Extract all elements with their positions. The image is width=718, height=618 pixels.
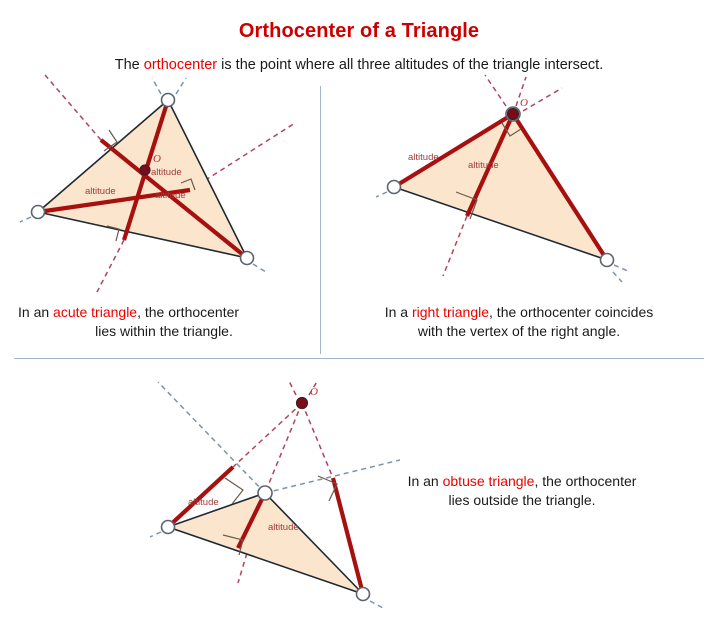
side-extension-dash — [158, 382, 265, 493]
right-triangle-figure: O altitude altitude — [330, 80, 710, 295]
panel-divider-vertical — [320, 86, 321, 354]
orthocenter-point — [140, 165, 150, 175]
vertex-tick-dash — [613, 272, 622, 282]
caption-acute-line2: lies within the triangle. — [18, 322, 310, 341]
caption-right-line2: with the vertex of the right angle. — [334, 322, 704, 341]
subtitle-text-after: is the point where all three altitudes o… — [217, 57, 603, 73]
altitude-extension-dash — [265, 403, 302, 493]
caption-text: In an — [18, 304, 53, 320]
triangle-vertex — [601, 254, 614, 267]
orthocenter-infographic: Orthocenter of a Triangle The orthocente… — [0, 0, 718, 618]
page-title: Orthocenter of a Triangle — [0, 20, 718, 43]
obtuse-triangle-shape — [168, 493, 363, 594]
caption-text: , the orthocenter — [534, 473, 636, 489]
caption-acute-line1: In an acute triangle, the orthocenter — [18, 303, 310, 322]
panel-divider-horizontal — [14, 358, 704, 359]
caption-highlight: right triangle — [412, 304, 489, 320]
triangle-vertex — [241, 252, 254, 265]
altitude-extension-dash — [485, 75, 506, 106]
caption-text: , the orthocenter — [137, 304, 239, 320]
altitude-label: altitude — [155, 190, 186, 201]
altitude-extension-dash — [288, 379, 296, 395]
caption-highlight: obtuse triangle — [443, 473, 535, 489]
vertex-tick-dash — [176, 78, 186, 94]
caption-text: In an — [408, 473, 443, 489]
page-subtitle: The orthocenter is the point where all t… — [0, 57, 718, 73]
triangle-vertex — [258, 486, 272, 500]
altitude-extension-dash — [45, 75, 101, 140]
triangle-vertex — [32, 206, 45, 219]
vertex-tick-dash — [152, 78, 161, 94]
orthocenter-label: O — [520, 97, 528, 109]
altitude-extension-dash — [302, 403, 333, 478]
orthocenter-label: O — [310, 386, 318, 398]
caption-obtuse: In an obtuse triangle, the orthocenter l… — [372, 472, 672, 510]
altitude-extension-dash — [523, 88, 562, 111]
acute-triangle-figure: O altitude altitude altitude — [0, 80, 320, 295]
triangle-vertex — [162, 521, 175, 534]
caption-text: , the orthocenter coincides — [489, 304, 653, 320]
caption-text: In a — [385, 304, 412, 320]
caption-obtuse-line2: lies outside the triangle. — [372, 491, 672, 510]
caption-right: In a right triangle, the orthocenter coi… — [334, 303, 704, 341]
triangle-vertex — [357, 588, 370, 601]
right-angle-mark — [225, 478, 243, 504]
vertex-tick-dash — [20, 217, 31, 222]
vertex-tick-dash — [370, 601, 383, 608]
altitude-extension-dash — [97, 240, 124, 292]
orthocenter-point — [508, 109, 519, 120]
right-triangle-shape — [394, 114, 607, 260]
orthocenter-label: O — [153, 153, 161, 165]
altitude-label: altitude — [188, 497, 219, 508]
vertex-tick-dash — [150, 532, 161, 537]
caption-acute: In an acute triangle, the orthocenter li… — [18, 303, 310, 341]
vertex-tick-dash — [614, 265, 628, 271]
caption-highlight: acute triangle — [53, 304, 137, 320]
altitude-label: altitude — [468, 160, 499, 171]
caption-obtuse-line1: In an obtuse triangle, the orthocenter — [372, 472, 672, 491]
vertex-tick-dash — [376, 192, 387, 197]
altitude-extension-dash — [233, 403, 302, 467]
orthocenter-point — [297, 398, 308, 409]
triangle-vertex — [388, 181, 401, 194]
altitude-label: altitude — [408, 152, 439, 163]
triangle-vertex — [162, 94, 175, 107]
caption-right-line1: In a right triangle, the orthocenter coi… — [334, 303, 704, 322]
altitude-label: altitude — [151, 167, 182, 178]
vertex-tick-dash — [253, 264, 266, 272]
subtitle-text-before: The — [115, 57, 144, 73]
altitude-extension-dash — [443, 216, 467, 276]
altitude-label: altitude — [268, 522, 299, 533]
altitude-label: altitude — [85, 186, 116, 197]
subtitle-highlight-orthocenter: orthocenter — [144, 57, 217, 73]
